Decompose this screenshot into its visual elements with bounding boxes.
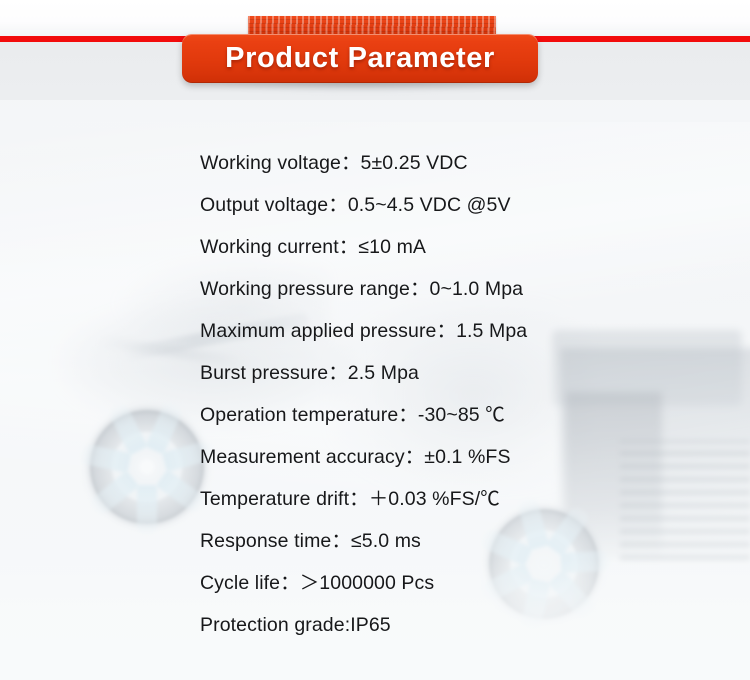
spec-burst-pressure: Burst pressure：2.5 Mpa bbox=[200, 364, 419, 384]
spec-row: Protection grade:IP65 bbox=[200, 605, 730, 647]
spec-row: Cycle life：＞1000000 Pcs bbox=[200, 563, 730, 605]
spec-response-time: Response time：≤5.0 ms bbox=[200, 532, 421, 552]
spec-row: Working current：≤10 mA bbox=[200, 227, 730, 269]
wheel-hub bbox=[140, 460, 154, 474]
title-pill: Product Parameter bbox=[182, 34, 538, 83]
spec-temperature-drift: Temperature drift：＋0.03 %FS/℃ bbox=[200, 490, 500, 510]
spec-measurement-accuracy: Measurement accuracy：±0.1 %FS bbox=[200, 448, 511, 468]
title-texture-tab bbox=[248, 16, 496, 36]
spec-row: Response time：≤5.0 ms bbox=[200, 521, 730, 563]
spec-row: Output voltage：0.5~4.5 VDC @5V bbox=[200, 185, 730, 227]
spec-cycle-life: Cycle life：＞1000000 Pcs bbox=[200, 574, 434, 594]
header-band: Product Parameter bbox=[0, 0, 750, 100]
spec-output-voltage: Output voltage：0.5~4.5 VDC @5V bbox=[200, 196, 511, 216]
spec-row: Burst pressure：2.5 Mpa bbox=[200, 353, 730, 395]
spec-protection-grade: Protection grade:IP65 bbox=[200, 616, 391, 636]
specification-list: Working voltage：5±0.25 VDC Output voltag… bbox=[200, 143, 730, 647]
spec-working-voltage: Working voltage：5±0.25 VDC bbox=[200, 154, 468, 174]
page-title: Product Parameter bbox=[225, 44, 495, 73]
spec-row: Temperature drift：＋0.03 %FS/℃ bbox=[200, 479, 730, 521]
spec-working-pressure-range: Working pressure range：0~1.0 Mpa bbox=[200, 280, 523, 300]
spec-row: Operation temperature：-30~85 ℃ bbox=[200, 395, 730, 437]
spec-row: Measurement accuracy：±0.1 %FS bbox=[200, 437, 730, 479]
spec-row: Maximum applied pressure：1.5 Mpa bbox=[200, 311, 730, 353]
spec-operation-temperature: Operation temperature：-30~85 ℃ bbox=[200, 406, 505, 426]
spec-working-current: Working current：≤10 mA bbox=[200, 238, 426, 258]
spec-row: Working voltage：5±0.25 VDC bbox=[200, 143, 730, 185]
product-parameter-page: Product Parameter Working voltage：5±0.25… bbox=[0, 0, 750, 680]
spec-row: Working pressure range：0~1.0 Mpa bbox=[200, 269, 730, 311]
spec-maximum-applied-pressure: Maximum applied pressure：1.5 Mpa bbox=[200, 322, 527, 342]
